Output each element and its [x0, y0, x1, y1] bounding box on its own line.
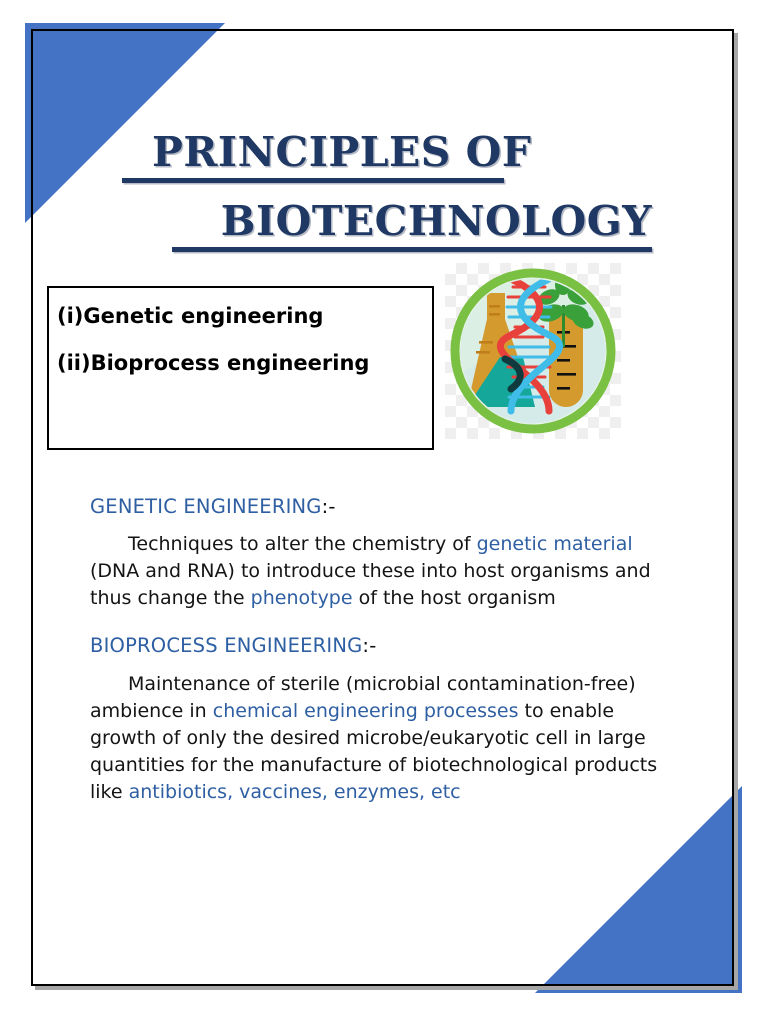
section-bioprocess-engineering: BIOPROCESS ENGINEERING:- Maintenance of …: [90, 634, 666, 805]
biotechnology-emblem-icon: [445, 263, 621, 439]
title-line-2: BIOTECHNOLOGY: [90, 201, 652, 242]
title-underline-1: [122, 178, 504, 183]
paragraph-part: of the host organism: [353, 587, 556, 609]
section-paragraph: Maintenance of sterile (microbial contam…: [90, 671, 666, 806]
section-heading: GENETIC ENGINEERING:-: [90, 495, 666, 519]
title-underline-2: [172, 247, 652, 252]
page-title: PRINCIPLES OF BIOTECHNOLOGY: [90, 132, 670, 252]
title-line-1: PRINCIPLES OF: [90, 132, 652, 173]
list-item: (ii)Bioprocess engineering: [57, 353, 432, 374]
paragraph-highlight: chemical engineering processes: [213, 700, 519, 722]
section-heading-dash: :-: [362, 634, 376, 657]
body-content: GENETIC ENGINEERING:- Techniques to alte…: [90, 495, 666, 820]
section-paragraph: Techniques to alter the chemistry of gen…: [90, 531, 666, 612]
section-heading-text: BIOPROCESS ENGINEERING: [90, 634, 362, 657]
section-genetic-engineering: GENETIC ENGINEERING:- Techniques to alte…: [90, 495, 666, 612]
section-heading-dash: :-: [322, 495, 336, 518]
document-page: PRINCIPLES OF BIOTECHNOLOGY (i)Genetic e…: [0, 0, 768, 1024]
paragraph-highlight: phenotype: [251, 587, 353, 609]
section-heading: BIOPROCESS ENGINEERING:-: [90, 634, 666, 658]
paragraph-part: Techniques to alter the chemistry of: [128, 533, 477, 555]
section-heading-text: GENETIC ENGINEERING: [90, 495, 322, 518]
paragraph-highlight: antibiotics, vaccines, enzymes, etc: [129, 781, 461, 803]
biotechnology-logo-image: [445, 263, 621, 439]
topics-box: (i)Genetic engineering (ii)Bioprocess en…: [47, 286, 434, 450]
list-item: (i)Genetic engineering: [57, 306, 432, 327]
paragraph-highlight: genetic material: [477, 533, 633, 555]
